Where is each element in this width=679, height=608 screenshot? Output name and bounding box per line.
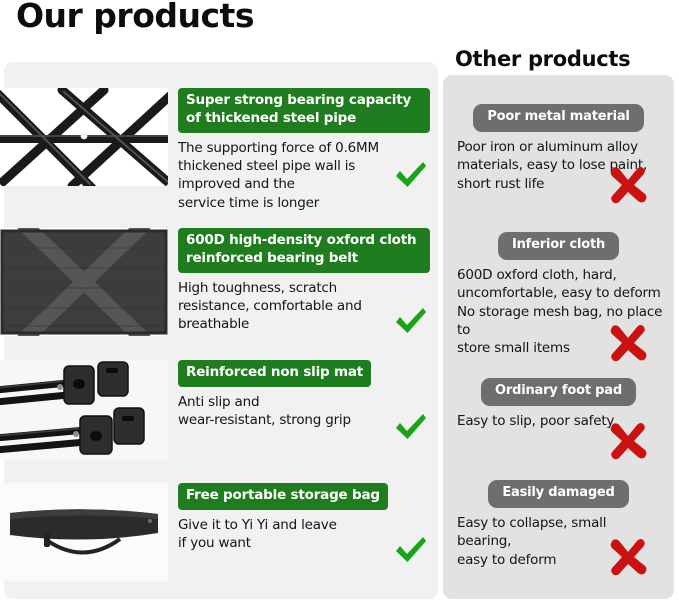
oxford-cloth-photo [0,228,168,336]
check-icon [394,160,428,190]
drawback-badge-wrap-1: Poor metal material [443,104,674,132]
cross-icon [607,420,649,462]
feature-desc-2: High toughness, scratch resistance, comf… [178,279,430,334]
our-product-row-4: Free portable storage bag Give it to Yi … [0,483,434,581]
feature-badge-2: 600D high-density oxford cloth reinforce… [178,228,430,273]
our-product-row-2: 600D high-density oxford cloth reinforce… [0,228,434,336]
feature-desc-1: The supporting force of 0.6MM thickened … [178,139,430,212]
our-product-text-2: 600D high-density oxford cloth reinforce… [168,228,434,334]
section-title-other-products: Other products [455,47,630,71]
feature-badge-1: Super strong bearing capacity of thicken… [178,88,430,133]
our-product-row-3: Reinforced non slip mat Anti slip and we… [0,360,434,460]
other-product-row-4: Easily damaged Easy to collapse, small b… [443,480,674,569]
other-product-row-2: Inferior cloth 600D oxford cloth, hard, … [443,232,674,358]
check-icon [394,306,428,336]
steel-pipe-cross-photo [0,88,168,186]
other-product-row-3: Ordinary foot pad Easy to slip, poor saf… [443,378,674,430]
feature-desc-3: Anti slip and wear-resistant, strong gri… [178,393,430,430]
drawback-badge-4: Easily damaged [488,480,628,508]
drawback-badge-wrap-4: Easily damaged [443,480,674,508]
drawback-badge-3: Ordinary foot pad [481,378,636,406]
other-product-row-1: Poor metal material Poor iron or aluminu… [443,104,674,193]
our-product-text-1: Super strong bearing capacity of thicken… [168,88,434,212]
cross-icon [607,164,649,206]
drawback-badge-wrap-3: Ordinary foot pad [443,378,674,406]
cross-icon [607,536,649,578]
drawback-badge-2: Inferior cloth [498,232,619,260]
foot-pad-photo [0,360,168,460]
feature-badge-4: Free portable storage bag [178,483,388,510]
our-product-text-4: Free portable storage bag Give it to Yi … [168,483,434,553]
check-icon [394,412,428,442]
page-title-our-products: Our products [16,0,254,35]
feature-desc-4: Give it to Yi Yi and leave if you want [178,516,430,553]
drawback-badge-wrap-2: Inferior cloth [443,232,674,260]
storage-bag-photo [0,483,168,581]
our-product-text-3: Reinforced non slip mat Anti slip and we… [168,360,434,430]
our-product-row-1: Super strong bearing capacity of thicken… [0,88,434,212]
cross-icon [607,322,649,364]
drawback-badge-1: Poor metal material [473,104,643,132]
feature-badge-3: Reinforced non slip mat [178,360,371,387]
check-icon [394,535,428,565]
